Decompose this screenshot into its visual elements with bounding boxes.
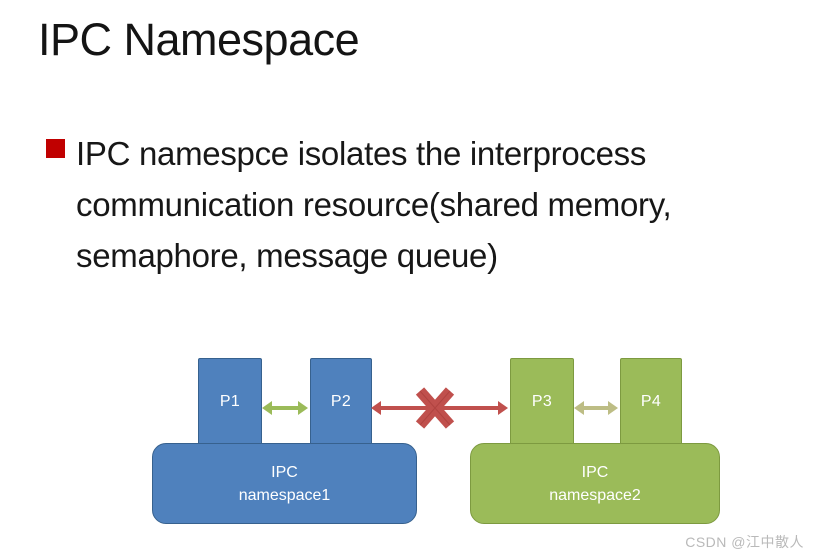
ipc-namespace-diagram: P1 P2 IPC namespace1 P3 P4 [0, 330, 820, 560]
process-box-p2: P2 [310, 358, 372, 445]
process-label-p2: P2 [331, 393, 351, 411]
namespace-base-right: IPC namespace2 [470, 443, 720, 524]
arrow-head-left-icon [371, 401, 381, 415]
namespace-base-left-line2: namespace1 [239, 484, 331, 507]
namespace-base-right-line1: IPC [582, 461, 609, 484]
ipc-arrow-p3-p4 [574, 401, 618, 415]
arrow-line [272, 406, 298, 410]
process-box-p4: P4 [620, 358, 682, 445]
process-box-p1: P1 [198, 358, 262, 445]
arrow-head-left-icon [574, 401, 584, 415]
namespace-base-left: IPC namespace1 [152, 443, 417, 524]
process-label-p1: P1 [220, 393, 240, 411]
ipc-arrow-p1-p2 [262, 401, 308, 415]
arrow-head-left-icon [262, 401, 272, 415]
arrow-head-right-icon [608, 401, 618, 415]
red-x-blocked-icon [413, 385, 457, 431]
arrow-head-right-icon [498, 401, 508, 415]
red-square-bullet-icon [46, 139, 65, 158]
process-box-p3: P3 [510, 358, 574, 445]
namespace-base-right-line2: namespace2 [549, 484, 641, 507]
process-label-p3: P3 [532, 393, 552, 411]
process-label-p4: P4 [641, 393, 661, 411]
page-title: IPC Namespace [38, 14, 359, 66]
arrow-line [584, 406, 608, 410]
arrow-head-right-icon [298, 401, 308, 415]
bullet-text: IPC namespce isolates the interprocess c… [76, 128, 806, 281]
bullet-item: IPC namespce isolates the interprocess c… [46, 128, 806, 281]
csdn-watermark: CSDN @江中散人 [685, 532, 804, 552]
namespace-base-left-line1: IPC [271, 461, 298, 484]
